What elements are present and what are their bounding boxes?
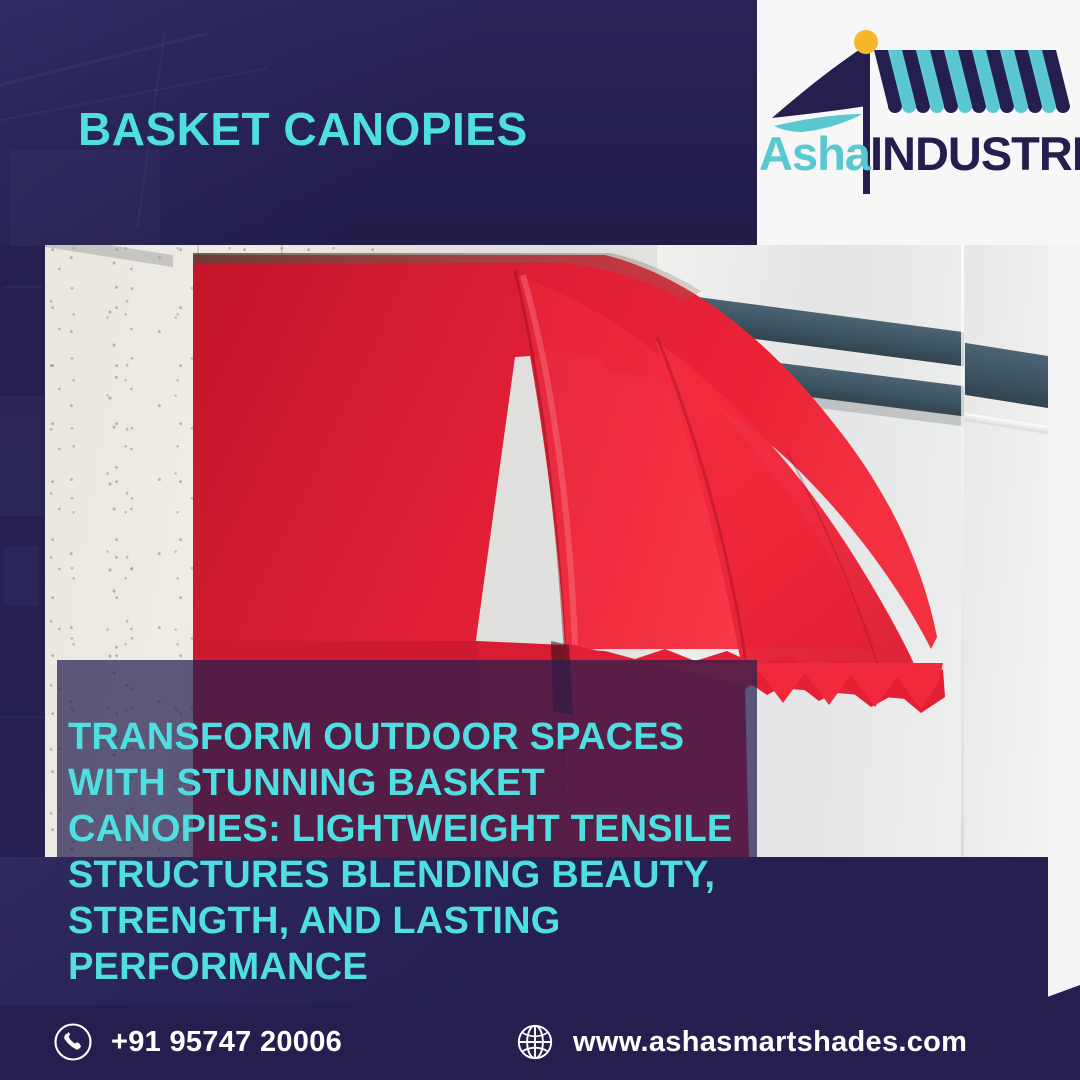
left-navy-column <box>0 246 46 886</box>
logo-wordmark: AshaINDUSTRIES <box>759 130 1069 177</box>
page-title: BASKET CANOPIES <box>78 102 528 156</box>
background-texture-block <box>4 546 38 606</box>
footer-website-label: www.ashasmartshades.com <box>573 1026 967 1059</box>
phone-circle-icon <box>52 1021 94 1063</box>
finial-dot-icon <box>854 30 878 54</box>
logo-word-industries: INDUSTRIES <box>870 127 1080 180</box>
background-texture-block <box>0 396 44 516</box>
headline-line: STRENGTH, AND LASTING <box>68 898 758 944</box>
logo-panel: AshaINDUSTRIES <box>757 0 1080 246</box>
background-texture-block <box>10 150 160 246</box>
logo-word-asha: Asha <box>759 127 870 180</box>
footer-phone-label: +91 95747 20006 <box>111 1026 342 1059</box>
poster-canvas: BASKET CANOPIES <box>0 0 1080 1080</box>
awning-stripes-icon <box>874 50 1074 113</box>
tensile-sail-icon <box>772 44 868 132</box>
background-texture-line <box>2 286 42 288</box>
background-texture-line <box>0 716 44 718</box>
footer-website[interactable]: www.ashasmartshades.com <box>514 1021 967 1063</box>
headline-text: TRANSFORM OUTDOOR SPACES WITH STUNNING B… <box>68 714 758 990</box>
globe-icon <box>514 1021 556 1063</box>
headline-line: TRANSFORM OUTDOOR SPACES <box>68 714 758 760</box>
headline-line: WITH STUNNING BASKET <box>68 760 758 806</box>
headline-line: PERFORMANCE <box>68 944 758 990</box>
headline-line: CANOPIES: LIGHTWEIGHT TENSILE <box>68 806 758 852</box>
headline-line: STRUCTURES BLENDING BEAUTY, <box>68 852 758 898</box>
background-texture-line <box>0 32 207 91</box>
footer-phone[interactable]: +91 95747 20006 <box>52 1021 342 1063</box>
